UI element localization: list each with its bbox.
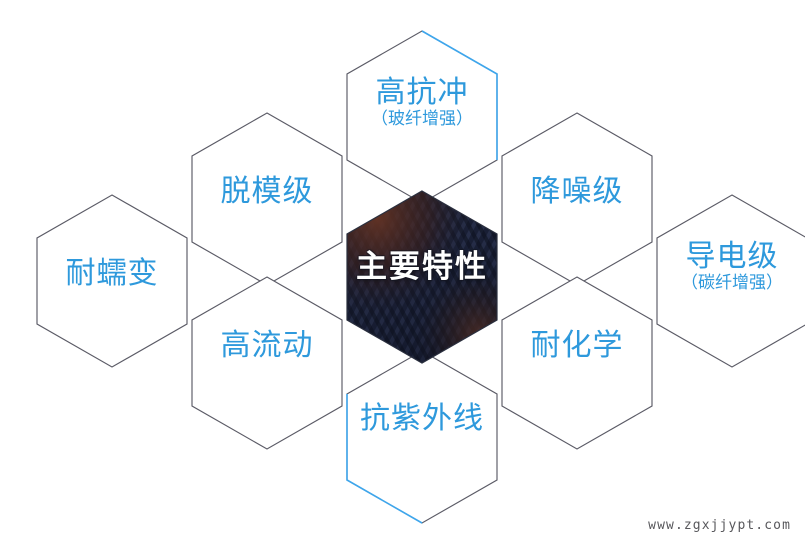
hex-cell-lower-right[interactable] [502,277,652,449]
hex-cell-top[interactable] [347,31,497,203]
hex-cell-left[interactable] [37,195,187,367]
honeycomb-svg [0,0,805,543]
hex-cell-upper-right[interactable] [502,113,652,285]
hex-cell-center[interactable] [340,185,510,370]
hex-cell-bottom[interactable] [347,351,497,523]
hex-cell-lower-left[interactable] [192,277,342,449]
watermark: www.zgxjjypt.com [648,518,791,533]
hex-cell-right[interactable] [657,195,805,367]
hex-cell-upper-left[interactable] [192,113,342,285]
honeycomb-diagram: 高抗冲 （玻纤增强） 脱模级 降噪级 耐蠕变 导电级 （碳纤增强） 高流动 耐化… [0,0,805,543]
